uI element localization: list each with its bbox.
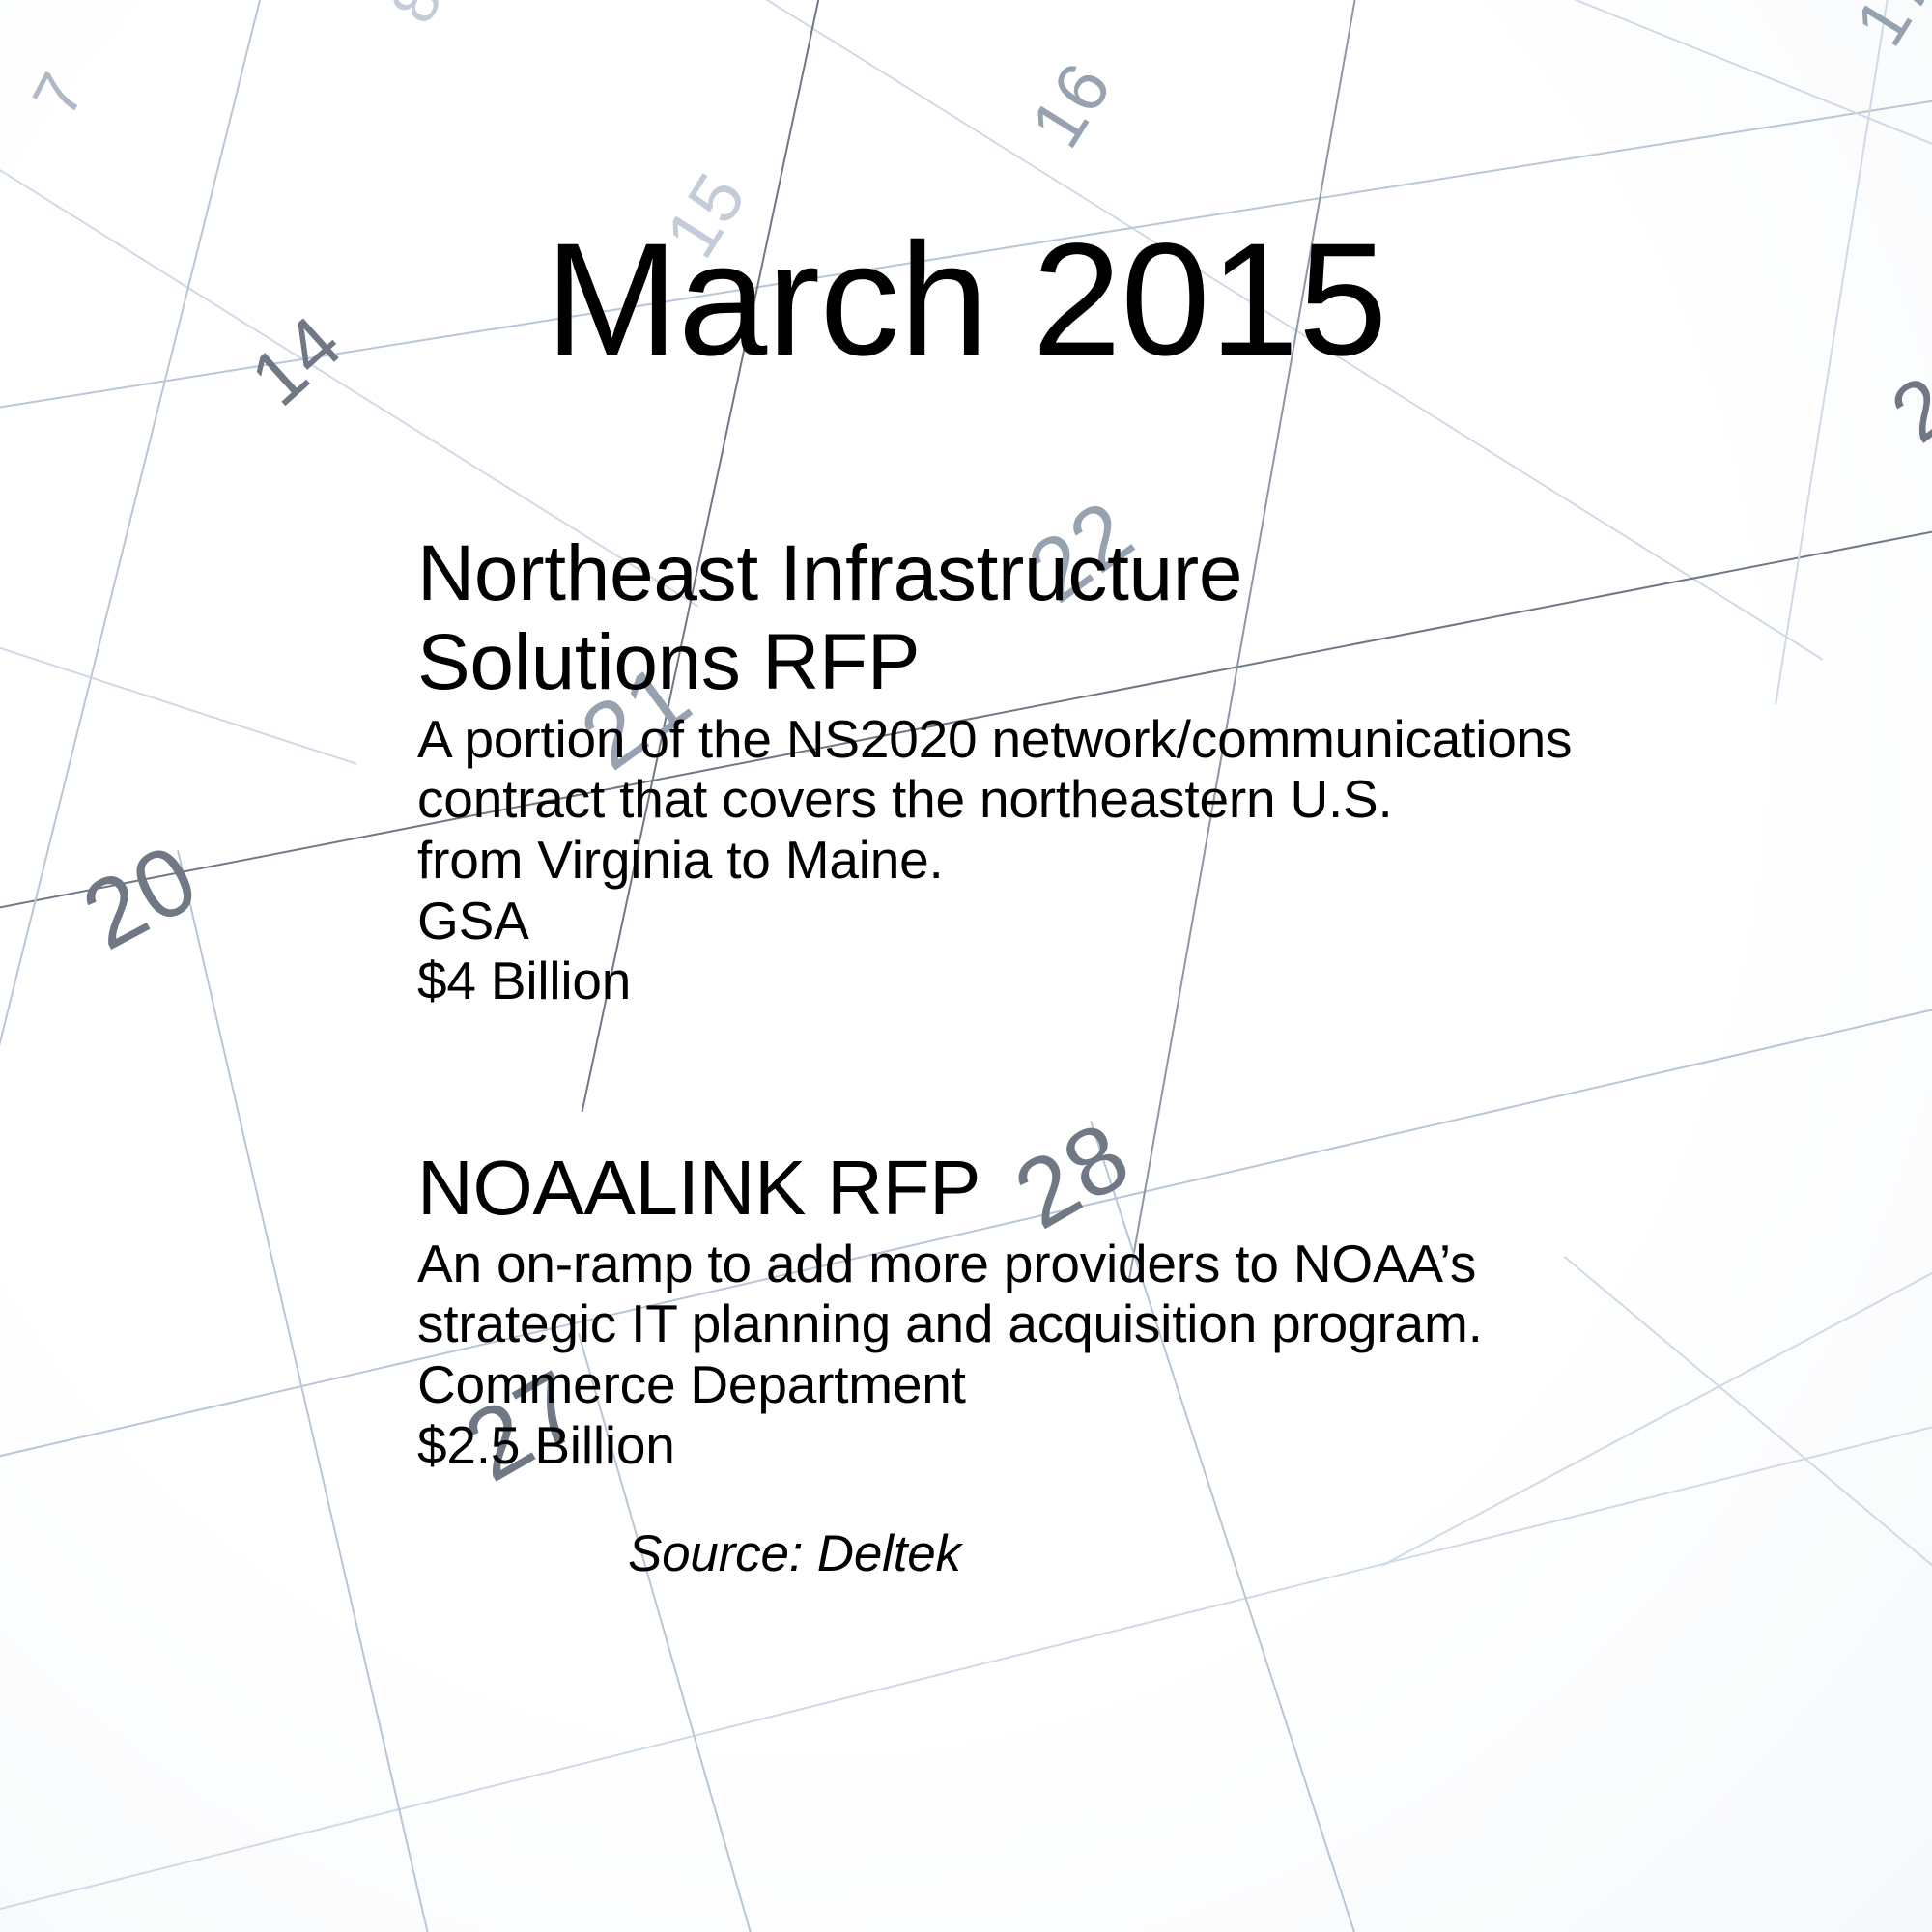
entry-description-line-3: from Virginia to Maine. <box>417 830 1634 891</box>
page-title: March 2015 <box>0 220 1932 381</box>
slide-canvas: 8177161514232221202827 March 2015 Northe… <box>0 0 1932 1932</box>
entry-description-line-2: strategic IT planning and acquisition pr… <box>417 1293 1634 1354</box>
entry-agency: Commerce Department <box>417 1354 1634 1415</box>
entry-agency: GSA <box>417 891 1634 952</box>
entry-heading-line-1: Northeast Infrastructure <box>417 529 1634 618</box>
entry-description-line-1: A portion of the NS2020 network/communic… <box>417 709 1634 770</box>
entry-value: $2.5 Billion <box>417 1415 1634 1476</box>
rfp-entry-northeast-infrastructure: Northeast Infrastructure Solutions RFP A… <box>417 529 1634 1011</box>
entry-value: $4 Billion <box>417 951 1634 1011</box>
entry-heading: Northeast Infrastructure Solutions RFP <box>417 529 1634 707</box>
entry-description-line-2: contract that covers the northeastern U.… <box>417 769 1634 830</box>
entry-heading: NOAALINK RFP <box>417 1145 1634 1232</box>
source-attribution: Source: Deltek <box>628 1524 961 1583</box>
entry-heading-line-1: NOAALINK RFP <box>417 1145 1634 1232</box>
slide-text-layer: March 2015 Northeast Infrastructure Solu… <box>0 0 1932 1932</box>
entry-description-line-1: An on-ramp to add more providers to NOAA… <box>417 1234 1634 1294</box>
entry-heading-line-2: Solutions RFP <box>417 618 1634 707</box>
rfp-entry-noaalink: NOAALINK RFP An on-ramp to add more prov… <box>417 1145 1634 1475</box>
